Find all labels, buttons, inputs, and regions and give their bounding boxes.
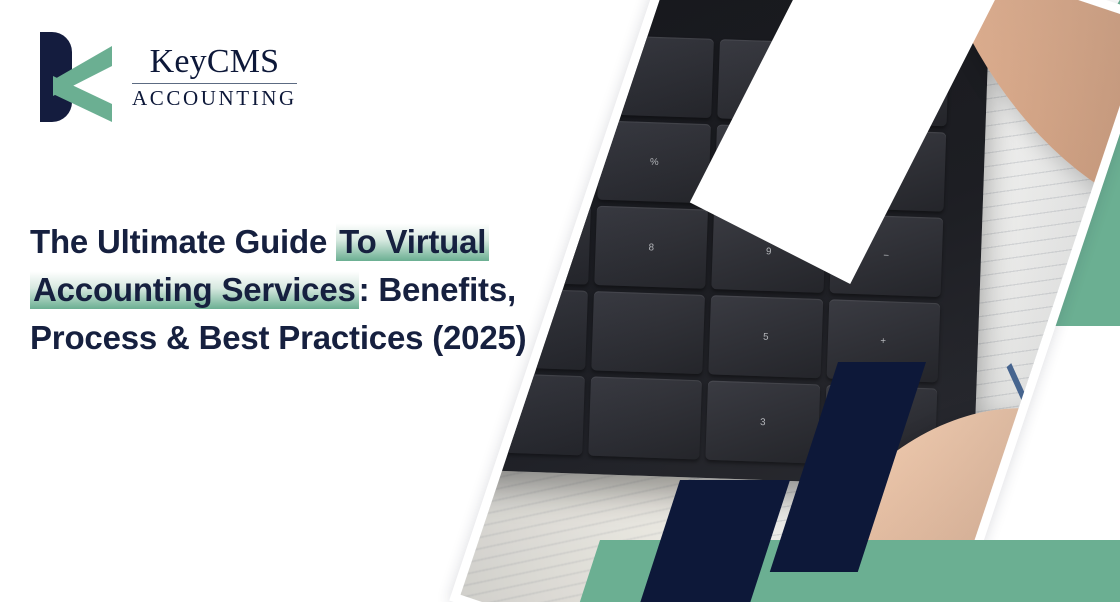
brand-name: KeyCMS <box>132 44 297 80</box>
brand-subtitle: ACCOUNTING <box>132 87 297 110</box>
keycms-k-monogram-icon <box>30 28 118 126</box>
brand-divider <box>132 83 297 84</box>
article-hero-banner: 52009444 + M+ % × MRC M- <box>0 0 1120 602</box>
calculator-key <box>461 112 477 195</box>
headline-text-2: : Benefits, <box>359 271 516 308</box>
headline-text-1: The Ultimate Guide <box>30 223 336 260</box>
calculator-key <box>461 368 468 451</box>
headline-text-3: Process & Best Practices (2025) <box>30 319 526 356</box>
calculator-key: M+ <box>480 116 594 199</box>
brand-logo[interactable]: KeyCMS ACCOUNTING <box>30 28 297 126</box>
headline-highlight-2: Accounting Services <box>30 269 359 309</box>
calculator-key <box>483 31 597 114</box>
page-title: The Ultimate Guide To VirtualAccounting … <box>30 218 575 362</box>
brand-wordmark: KeyCMS ACCOUNTING <box>132 44 297 111</box>
headline-highlight-1: To Virtual <box>336 221 489 261</box>
calculator-key <box>461 26 480 109</box>
